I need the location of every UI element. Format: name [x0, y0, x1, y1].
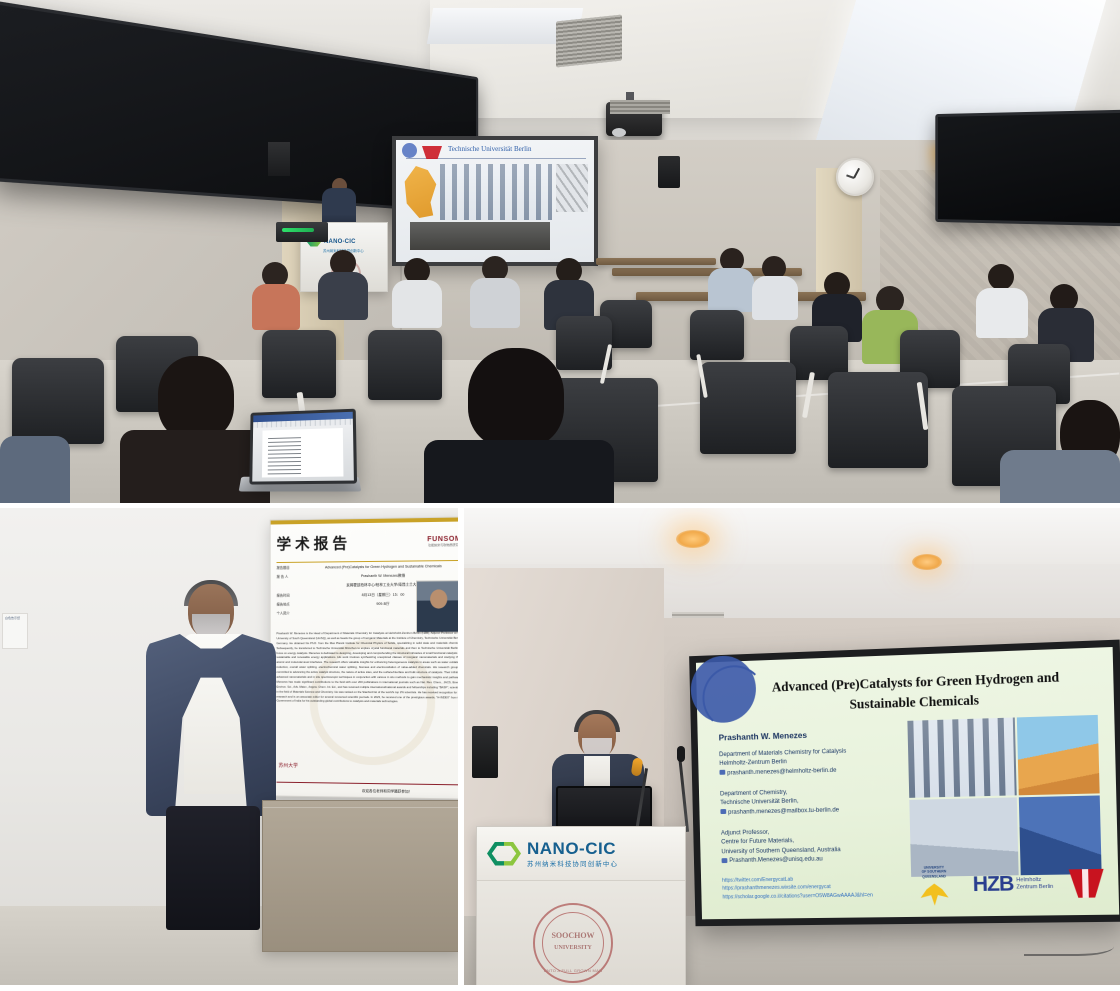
projector-lens	[612, 128, 626, 137]
audience-body	[752, 276, 798, 320]
audience-body	[976, 288, 1028, 338]
slide-affiliation-2: Department of Chemistry, Technische Univ…	[720, 787, 839, 817]
slide-affiliation-3: Adjunct Professor, Centre for Future Mat…	[721, 826, 841, 865]
speaker-portrait-photo	[416, 580, 458, 633]
funsom-logo-sub: 功能纳米与软物质研究院	[427, 542, 458, 546]
photo-lecture-hall-audience: Technische Universität Berlin NANO-CIC 苏…	[0, 0, 1120, 503]
laptop-screen[interactable]	[249, 409, 357, 485]
affiliation-email: prashanth.menezes@mailbox.tu-berlin.de	[728, 806, 839, 815]
audience-head	[988, 264, 1014, 290]
ceiling-vent-icon	[556, 15, 622, 68]
poster-footer-text: 欢迎各位老师和同学踊跃参加！	[314, 788, 458, 795]
hzb-logo-sub: Helmholtz Zentrum Berlin	[1016, 876, 1053, 892]
av-led-strip	[282, 228, 314, 232]
audience-body	[708, 268, 754, 312]
slide-link[interactable]: https://scholar.google.co.il/citations?u…	[722, 891, 873, 901]
tu-building-photo	[440, 164, 552, 220]
wall-clock-icon	[836, 158, 874, 196]
email-icon	[720, 809, 726, 814]
hzb-sub-line: Zentrum Berlin	[1016, 884, 1053, 892]
affiliation-email-row: prashanth.menezes@mailbox.tu-berlin.de	[720, 805, 839, 817]
gutter-bottom	[0, 985, 1120, 991]
gutter-horizontal	[0, 503, 1120, 508]
usq-phoenix-icon	[920, 883, 948, 905]
affiliation-email: prashanth.menezes@helmholtz-berlin.de	[727, 766, 836, 776]
slide-presenter-name: Prashanth W. Menezes	[719, 730, 808, 743]
soochow-university-seal-icon: SOOCHOW UNIVERSITY UNTO A FULL GROWN MAN	[533, 903, 613, 983]
foreground-attendee-head	[468, 348, 564, 448]
email-icon	[719, 770, 725, 775]
foreground-attendee-body	[424, 440, 614, 503]
photo-collage: Technische Universität Berlin NANO-CIC 苏…	[0, 0, 1120, 991]
slide-logo-row: UNIVERSITY OF SOUTHERN QUEENSLAND HZB He…	[911, 862, 1105, 907]
poster-field-value: Prashanth W. Menezes教授	[306, 573, 458, 580]
slide-photo-tile	[1017, 715, 1100, 795]
ceiling-soffit	[464, 508, 1120, 564]
podium-brand-text: NANO-CIC 苏州纳米科技协同创新中心	[527, 840, 618, 868]
poster-title-cn: 学术报告	[276, 532, 351, 554]
podium-brand-plate: NANO-CIC 苏州纳米科技协同创新中心	[477, 827, 685, 881]
floor-cable	[1024, 932, 1114, 956]
poster-biography-text: Prashanth W. Menezes is the Head of Depa…	[276, 631, 458, 764]
chair	[700, 362, 796, 454]
slide-title: Advanced (Pre)Catalysts for Green Hydrog…	[738, 666, 1095, 719]
funsom-logo: FUNSOM 功能纳米与软物质研究院	[427, 535, 458, 547]
cabinet-edge	[263, 807, 458, 808]
foreground-attendee-body	[1000, 450, 1120, 503]
downlight-icon	[676, 530, 710, 548]
poster-header: 学术报告 FUNSOM 功能纳米与软物质研究院	[271, 523, 458, 560]
audience-body	[318, 272, 368, 320]
poster-field-value: Advanced (Pre)Catalysts for Green Hydrog…	[306, 564, 458, 571]
av-control-box	[276, 222, 328, 242]
poster-field-label: 报 告 人	[276, 575, 301, 580]
slide-header-text: Technische Universität Berlin	[448, 145, 531, 153]
laptop-document-page	[262, 428, 344, 478]
affiliation-email: Prashanth.Menezes@unisq.edu.au	[729, 855, 823, 864]
seal-line-2: UNIVERSITY	[535, 945, 611, 951]
chair	[368, 330, 442, 400]
photo-speaker-with-poster: 白色告示纸 学术报告 FUNSOM 功能纳米与软物质研究院 报告题目 Advan…	[0, 508, 458, 985]
podium-brand-label: NANO-CIC	[324, 239, 356, 245]
podium: NANO-CIC 苏州纳米科技协同创新中心 SOOCHOW UNIVERSITY…	[476, 826, 686, 985]
seal-line-1: SOOCHOW	[535, 931, 611, 940]
podium-brand-label: NANO-CIC	[527, 840, 618, 857]
foreground-attendee-body	[0, 436, 70, 503]
foreground-attendee-head	[158, 356, 234, 440]
seal-motto: UNTO A FULL GROWN MAN	[535, 968, 611, 973]
poster-footer-rule	[276, 782, 458, 786]
microphone-head-icon	[677, 746, 685, 762]
campus-aerial-map	[556, 164, 588, 212]
speaker-trousers	[166, 806, 260, 930]
poster-header-rule	[276, 560, 458, 563]
usq-logo-line: QUEENSLAND	[911, 874, 957, 879]
wall-speaker-right-icon	[658, 156, 680, 188]
email-icon	[722, 858, 728, 863]
wall-speaker-left-icon	[268, 142, 290, 176]
metal-cabinet	[262, 800, 458, 952]
ceiling-vent-secondary	[610, 100, 670, 114]
chair	[828, 372, 928, 468]
audience-body	[470, 278, 520, 328]
projection-screen: Technische Universität Berlin	[392, 136, 598, 266]
lecture-hall-photo	[410, 222, 550, 250]
wall-mounted-display-right	[935, 110, 1120, 226]
nano-cic-mark-icon	[487, 842, 521, 866]
tu-berlin-logo-icon	[1069, 869, 1105, 898]
slide-photo-tile	[907, 717, 1016, 797]
foreground-attendee-body	[120, 430, 270, 503]
hzb-logo-main: HZB	[972, 872, 1013, 897]
poster-field-label: 报告题目	[276, 566, 301, 571]
wall-notice-paper: 白色告示纸	[2, 613, 28, 649]
affiliation-email-row: Prashanth.Menezes@unisq.edu.au	[722, 854, 841, 865]
chair	[262, 330, 336, 398]
usq-logo-icon: UNIVERSITY OF SOUTHERN QUEENSLAND	[911, 865, 958, 906]
desk-row-far	[596, 258, 716, 265]
slide-affiliation-1: Department of Materials Chemistry for Ca…	[719, 747, 847, 778]
usq-logo-text: UNIVERSITY OF SOUTHERN QUEENSLAND	[911, 865, 957, 879]
poster-row: 报 告 人 Prashanth W. Menezes教授	[276, 573, 458, 580]
podium-brand-cn-label: 苏州纳米科技协同创新中心	[527, 859, 618, 868]
hzb-logo-icon: HZB Helmholtz Zentrum Berlin	[972, 872, 1053, 897]
seminar-announcement-poster: 学术报告 FUNSOM 功能纳米与软物质研究院 报告题目 Advanced (P…	[270, 516, 458, 799]
chair	[12, 358, 104, 444]
audience-body	[252, 284, 300, 330]
chair	[690, 310, 744, 360]
funsom-logo-main: FUNSOM	[427, 535, 458, 543]
audience-body	[392, 280, 442, 328]
gutter-vertical	[458, 503, 464, 991]
slide-links: https://twitter.com/EnergycatLab https:/…	[722, 874, 873, 901]
wall-speaker-icon	[472, 726, 498, 778]
photo-speaker-at-podium: Advanced (Pre)Catalysts for Green Hydrog…	[464, 508, 1120, 985]
presentation-screen: Advanced (Pre)Catalysts for Green Hydrog…	[689, 640, 1120, 927]
slide-photo-collage	[907, 715, 1101, 877]
poster-row: 报告题目 Advanced (Pre)Catalysts for Green H…	[276, 564, 458, 571]
germany-map-graphic	[404, 166, 438, 218]
downlight-icon	[912, 554, 942, 570]
